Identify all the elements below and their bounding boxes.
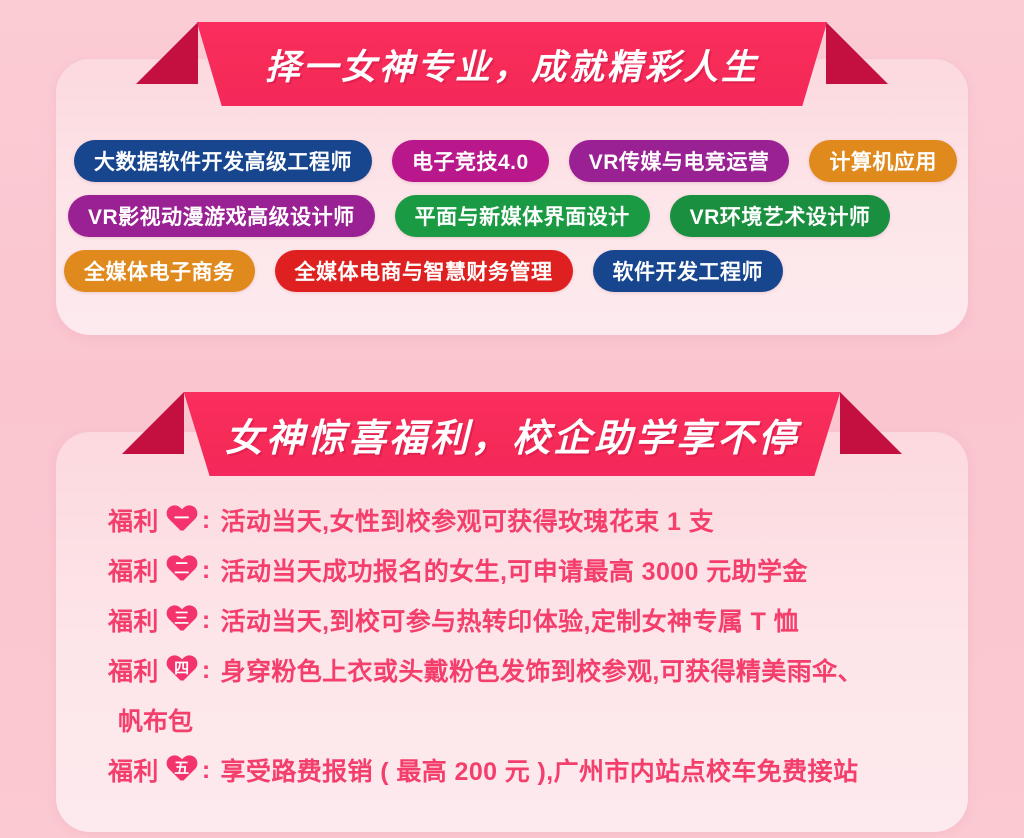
heart-badge-icon: 三 bbox=[167, 606, 197, 634]
majors-pill-row: VR影视动漫游戏高级设计师 平面与新媒体界面设计 VR环境艺术设计师 bbox=[56, 195, 968, 237]
major-pill-bigdata[interactable]: 大数据软件开发高级工程师 bbox=[74, 140, 372, 182]
benefit-colon: : bbox=[202, 506, 211, 535]
majors-banner: 择一女神专业，成就精彩人生 bbox=[176, 22, 848, 106]
banner-wing-right-icon bbox=[840, 392, 902, 454]
benefit-number: 五 bbox=[167, 756, 197, 784]
benefit-colon: : bbox=[202, 556, 211, 585]
benefit-text: 身穿粉色上衣或头戴粉色发饰到校参观,可获得精美雨伞、 bbox=[221, 652, 863, 688]
majors-pill-list: 大数据软件开发高级工程师 电子竞技4.0 VR传媒与电竞运营 计算机应用 VR影… bbox=[56, 140, 968, 305]
banner-wing-left-icon bbox=[136, 22, 198, 84]
benefit-prefix: 福利 bbox=[108, 502, 159, 538]
benefit-item-4-wrap: 帆布包 bbox=[108, 702, 958, 738]
majors-pill-row: 大数据软件开发高级工程师 电子竞技4.0 VR传媒与电竞运营 计算机应用 bbox=[56, 140, 968, 182]
benefit-item-4: 福利 四 : 身穿粉色上衣或头戴粉色发饰到校参观,可获得精美雨伞、 bbox=[108, 652, 958, 688]
benefits-banner: 女神惊喜福利，校企助学享不停 bbox=[162, 392, 862, 476]
major-pill-computer-application[interactable]: 计算机应用 bbox=[809, 140, 957, 182]
majors-banner-body: 择一女神专业，成就精彩人生 bbox=[176, 22, 848, 106]
benefit-colon: : bbox=[202, 756, 211, 785]
benefit-number: 一 bbox=[167, 506, 197, 534]
benefits-banner-title: 女神惊喜福利，校企助学享不停 bbox=[225, 407, 799, 462]
benefit-text: 活动当天,女性到校参观可获得玫瑰花束 1 支 bbox=[221, 502, 715, 538]
benefit-prefix: 福利 bbox=[108, 552, 159, 588]
major-pill-ecommerce[interactable]: 全媒体电子商务 bbox=[64, 250, 255, 292]
poster-page: 择一女神专业，成就精彩人生 大数据软件开发高级工程师 电子竞技4.0 VR传媒与… bbox=[0, 0, 1024, 838]
heart-badge-icon: 一 bbox=[167, 506, 197, 534]
benefit-prefix: 福利 bbox=[108, 652, 159, 688]
heart-badge-icon: 二 bbox=[167, 556, 197, 584]
benefit-text: 活动当天,到校可参与热转印体验,定制女神专属 T 恤 bbox=[221, 602, 799, 638]
majors-banner-title: 择一女神专业，成就精彩人生 bbox=[265, 39, 759, 90]
benefits-list: 福利 一 : 活动当天,女性到校参观可获得玫瑰花束 1 支 福利 二 : 活动当… bbox=[108, 502, 958, 802]
benefits-banner-body: 女神惊喜福利，校企助学享不停 bbox=[162, 392, 862, 476]
benefit-colon: : bbox=[202, 606, 211, 635]
benefit-text: 活动当天成功报名的女生,可申请最高 3000 元助学金 bbox=[221, 552, 808, 588]
benefits-section: 女神惊喜福利，校企助学享不停 福利 一 : 活动当天,女性到校参观可获得玫瑰花束… bbox=[0, 372, 1024, 838]
benefit-item-2: 福利 二 : 活动当天成功报名的女生,可申请最高 3000 元助学金 bbox=[108, 552, 958, 588]
benefit-item-5: 福利 五 : 享受路费报销 ( 最高 200 元 ),广州市内站点校车免费接站 bbox=[108, 752, 958, 788]
major-pill-ecommerce-finance[interactable]: 全媒体电商与智慧财务管理 bbox=[275, 250, 573, 292]
banner-wing-left-icon bbox=[122, 392, 184, 454]
major-pill-vr-environment-art[interactable]: VR环境艺术设计师 bbox=[670, 195, 891, 237]
benefit-number: 四 bbox=[167, 656, 197, 684]
benefit-number: 三 bbox=[167, 606, 197, 634]
major-pill-vr-media[interactable]: VR传媒与电竞运营 bbox=[569, 140, 790, 182]
heart-badge-icon: 四 bbox=[167, 656, 197, 684]
benefit-item-3: 福利 三 : 活动当天,到校可参与热转印体验,定制女神专属 T 恤 bbox=[108, 602, 958, 638]
majors-section: 择一女神专业，成就精彩人生 大数据软件开发高级工程师 电子竞技4.0 VR传媒与… bbox=[0, 0, 1024, 360]
heart-badge-icon: 五 bbox=[167, 756, 197, 784]
major-pill-vr-animation[interactable]: VR影视动漫游戏高级设计师 bbox=[68, 195, 375, 237]
major-pill-graphic-ui[interactable]: 平面与新媒体界面设计 bbox=[395, 195, 650, 237]
major-pill-esports[interactable]: 电子竞技4.0 bbox=[392, 140, 549, 182]
benefit-text: 享受路费报销 ( 最高 200 元 ),广州市内站点校车免费接站 bbox=[221, 752, 859, 788]
benefit-prefix: 福利 bbox=[108, 752, 159, 788]
benefit-colon: : bbox=[202, 656, 211, 685]
benefit-item-1: 福利 一 : 活动当天,女性到校参观可获得玫瑰花束 1 支 bbox=[108, 502, 958, 538]
benefit-prefix: 福利 bbox=[108, 602, 159, 638]
majors-pill-row: 全媒体电子商务 全媒体电商与智慧财务管理 软件开发工程师 bbox=[56, 250, 968, 292]
major-pill-software-engineer[interactable]: 软件开发工程师 bbox=[593, 250, 784, 292]
benefit-number: 二 bbox=[167, 556, 197, 584]
